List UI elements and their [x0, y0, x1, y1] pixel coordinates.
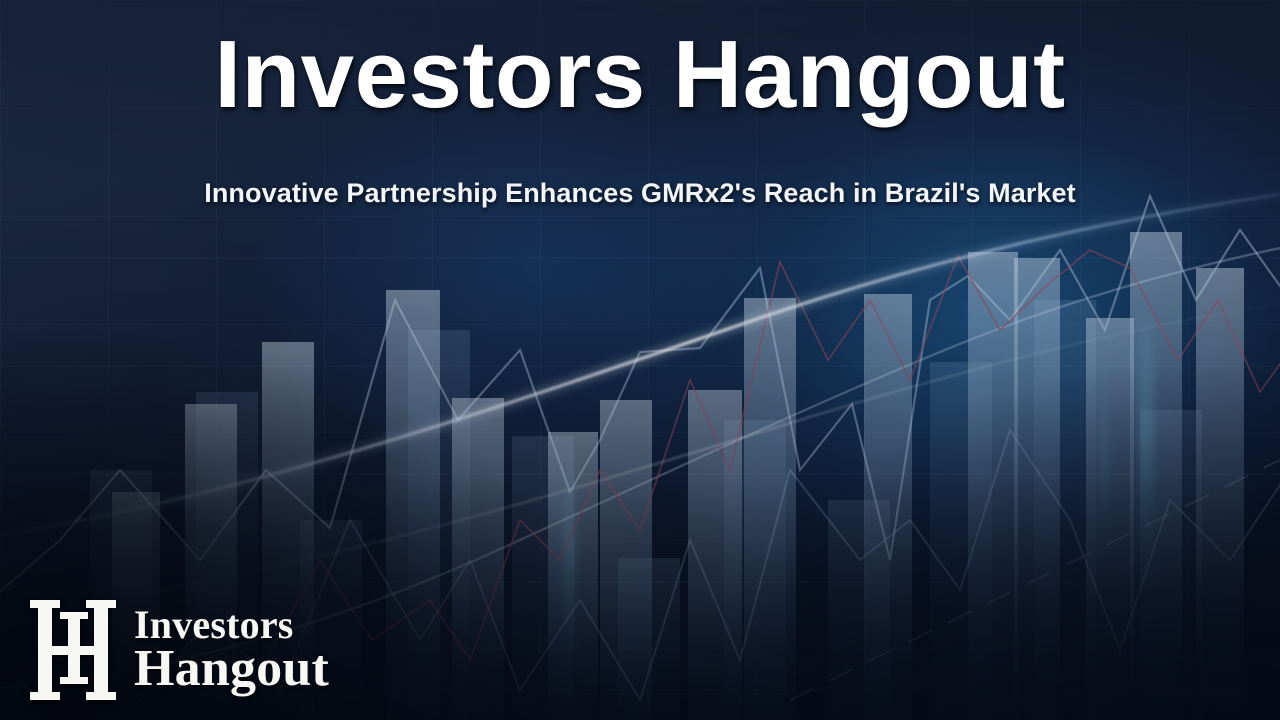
ih-monogram-icon — [28, 598, 120, 702]
logo-wordmark: Investors Hangout — [134, 607, 329, 694]
banner-graphic: Investors Hangout Innovative Partnership… — [0, 0, 1280, 720]
logo-line-hangout: Hangout — [134, 645, 329, 693]
page-subtitle: Innovative Partnership Enhances GMRx2's … — [0, 178, 1280, 209]
site-logo[interactable]: Investors Hangout — [28, 598, 329, 702]
banner-content: Investors Hangout Innovative Partnership… — [0, 0, 1280, 720]
logo-line-investors: Investors — [134, 607, 329, 644]
page-title: Investors Hangout — [0, 18, 1280, 131]
